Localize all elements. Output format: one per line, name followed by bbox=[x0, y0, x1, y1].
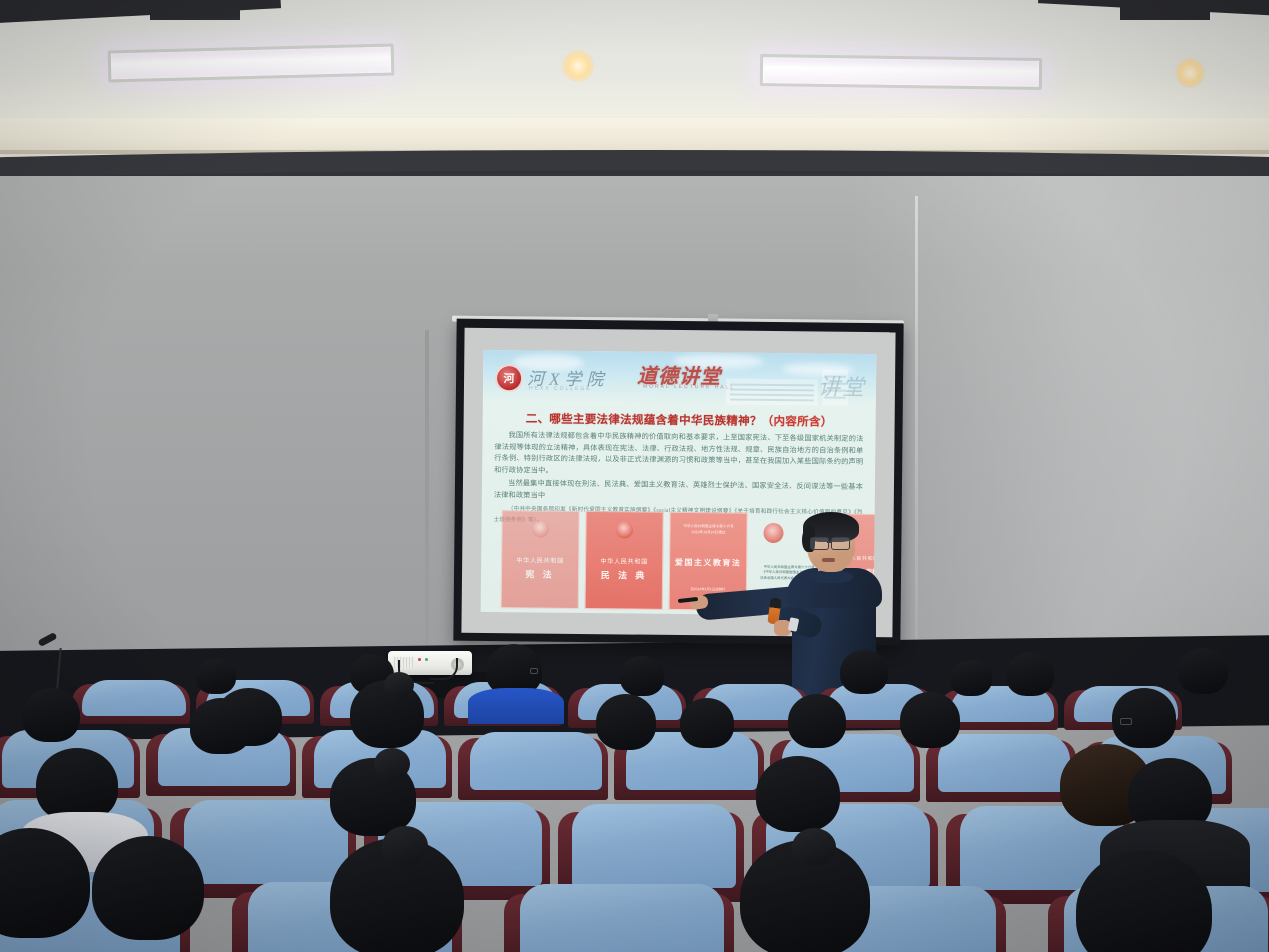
slide-header-band: 河 河X学院 HEXX COLLEGE 道德讲堂 MORAL LECTURE H… bbox=[483, 350, 877, 408]
audience-head bbox=[216, 688, 282, 746]
audience-head bbox=[840, 650, 888, 694]
ceiling-downlight-right bbox=[1175, 58, 1205, 88]
glasses-icon-bridge bbox=[827, 541, 832, 543]
book-cover-constitution: 中华人民共和国 宪 法 bbox=[501, 510, 580, 609]
ceiling-panel-light-left bbox=[108, 44, 395, 83]
header-watermark-text: 讲堂 bbox=[818, 369, 866, 402]
book-cover-civil-code: 中华人民共和国 民 法 典 bbox=[585, 511, 664, 610]
school-logo-icon: 河 bbox=[495, 364, 523, 392]
presenter-mouth bbox=[822, 558, 835, 562]
slide-title-main: 二、哪些主要法律法规蕴含着中华民族精神？ bbox=[526, 413, 762, 427]
national-emblem-icon bbox=[532, 520, 549, 537]
seat bbox=[938, 734, 1070, 792]
audience-head bbox=[900, 692, 960, 748]
audience-head bbox=[680, 698, 734, 748]
book-2-line-1: 中华人民共和国 bbox=[586, 556, 662, 566]
national-emblem-icon bbox=[616, 521, 633, 538]
audience-head bbox=[1178, 648, 1228, 694]
book-1-line-2: 宪 法 bbox=[502, 567, 578, 581]
audience-area bbox=[0, 640, 1269, 952]
ceiling-cove bbox=[0, 118, 1269, 154]
audience-head bbox=[950, 660, 992, 696]
audience-head bbox=[36, 748, 118, 822]
slide-title-parenthetical: （内容所含） bbox=[762, 416, 833, 429]
seat bbox=[520, 884, 724, 952]
audience-head bbox=[92, 836, 204, 940]
audience-head bbox=[620, 656, 664, 696]
book-1-line-1: 中华人民共和国 bbox=[502, 555, 578, 565]
audience-hair-bun bbox=[374, 748, 410, 780]
seat bbox=[184, 800, 348, 884]
slide-title: 二、哪些主要法律法规蕴含着中华民族精神？（内容所含） bbox=[483, 410, 876, 430]
audience-head bbox=[196, 658, 236, 694]
seat bbox=[82, 680, 186, 716]
ceiling-downlight-center bbox=[562, 50, 594, 82]
ceiling-notch-right bbox=[1120, 0, 1210, 20]
glasses-icon-left-lens bbox=[810, 537, 829, 550]
glasses-icon bbox=[530, 668, 538, 674]
glasses-icon-right-lens bbox=[831, 537, 850, 550]
seat bbox=[470, 732, 602, 790]
ceiling-panel-light-right bbox=[760, 54, 1042, 90]
audience-head bbox=[788, 694, 846, 748]
seat bbox=[572, 804, 736, 888]
audience-hair-bun bbox=[384, 672, 414, 698]
book-2-line-2: 民 法 典 bbox=[586, 568, 662, 582]
school-name-english: HEXX COLLEGE bbox=[529, 385, 592, 392]
slide-paragraph-1: 我国所有法律法规都包含着中华民族精神的价值取向和基本要求，上至国家宪法、下至各级… bbox=[494, 430, 863, 480]
slide-paragraph-2: 当然最集中直接体现在刑法、民法典、爱国主义教育法、英雄烈士保护法、国家安全法、反… bbox=[494, 478, 863, 505]
audience-hair-bun bbox=[382, 826, 428, 866]
glasses-icon bbox=[1120, 718, 1132, 725]
ceiling-notch-left bbox=[150, 0, 240, 20]
audience-head bbox=[22, 688, 80, 742]
wall-corner-left bbox=[425, 330, 429, 670]
audience-shoulders bbox=[468, 688, 564, 724]
audience-head bbox=[756, 756, 840, 832]
lecture-hall-scene: 河 河X学院 HEXX COLLEGE 道德讲堂 MORAL LECTURE H… bbox=[0, 0, 1269, 952]
audience-hair-bun bbox=[792, 828, 836, 866]
audience-head bbox=[1006, 652, 1054, 696]
audience-head bbox=[596, 694, 656, 750]
